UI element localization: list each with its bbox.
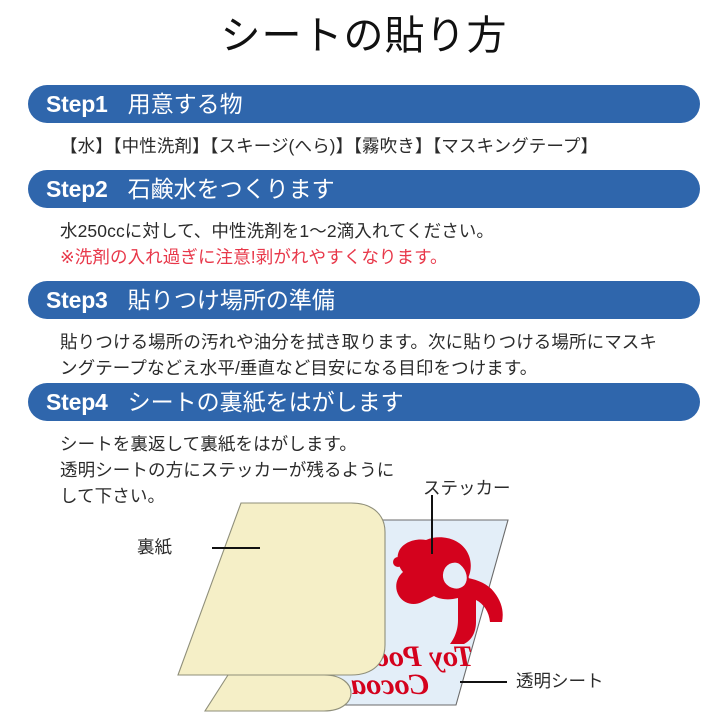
label-clear-sheet: 透明シート: [516, 670, 604, 692]
poodle-nose-icon: [393, 557, 403, 567]
step-header-4: Step4 シートの裏紙をはがします: [28, 383, 700, 421]
page-title: シートの貼り方: [0, 8, 728, 64]
label-backing-paper: 裏紙: [137, 536, 172, 558]
step-number-3: Step3: [46, 289, 108, 312]
step-warning-2: ※洗剤の入れ過ぎに注意!剥がれやすくなります。: [60, 244, 680, 270]
step-title-2: 石鹸水をつくります: [128, 178, 335, 201]
step-number-4: Step4: [46, 391, 108, 414]
poodle-ear-icon: [442, 562, 468, 590]
step-title-4: シートの裏紙をはがします: [128, 391, 404, 414]
step-title-1: 用意する物: [128, 93, 243, 116]
sheet-peel-diagram: Toy Poodle Cocoa 裏紙 ステッカー 透明シート: [0, 470, 728, 728]
step-header-3: Step3 貼りつけ場所の準備: [28, 281, 700, 319]
step-body-2: 水250ccに対して、中性洗剤を1〜2滴入れてください。: [60, 218, 680, 244]
step-body-3: 貼りつける場所の汚れや油分を拭き取ります。次に貼りつける場所にマスキ ングテープ…: [60, 329, 700, 381]
label-sticker: ステッカー: [423, 477, 511, 499]
step-number-1: Step1: [46, 93, 108, 116]
step-title-3: 貼りつけ場所の準備: [128, 289, 335, 312]
step-body-1: 【水】【中性洗剤】【スキージ(へら)】【霧吹き】【マスキングテープ】: [60, 133, 680, 159]
step-header-2: Step2 石鹸水をつくります: [28, 170, 700, 208]
step-header-1: Step1 用意する物: [28, 85, 700, 123]
instruction-sheet: シートの貼り方 Step1 用意する物 【水】【中性洗剤】【スキージ(へら)】【…: [0, 0, 728, 728]
step-number-2: Step2: [46, 178, 108, 201]
